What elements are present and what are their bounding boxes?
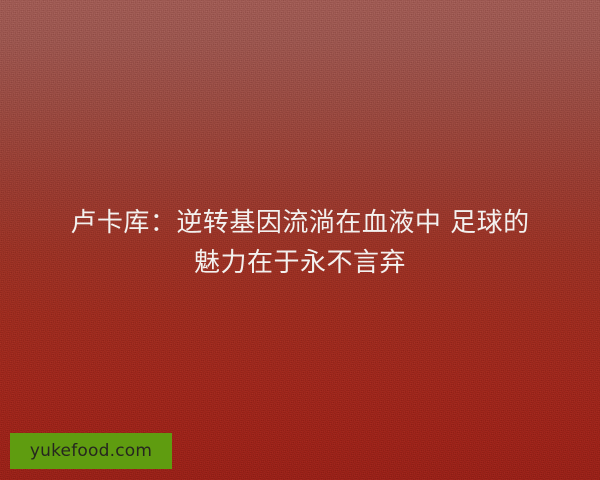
headline-text: 卢卡库：逆转基因流淌在血液中 足球的 魅力在于永不言弃 bbox=[40, 203, 560, 283]
watermark-label: yukefood.com bbox=[30, 443, 152, 460]
watermark-badge: yukefood.com bbox=[10, 433, 172, 469]
poster-image: 卢卡库：逆转基因流淌在血液中 足球的 魅力在于永不言弃 yukefood.com bbox=[0, 0, 600, 480]
